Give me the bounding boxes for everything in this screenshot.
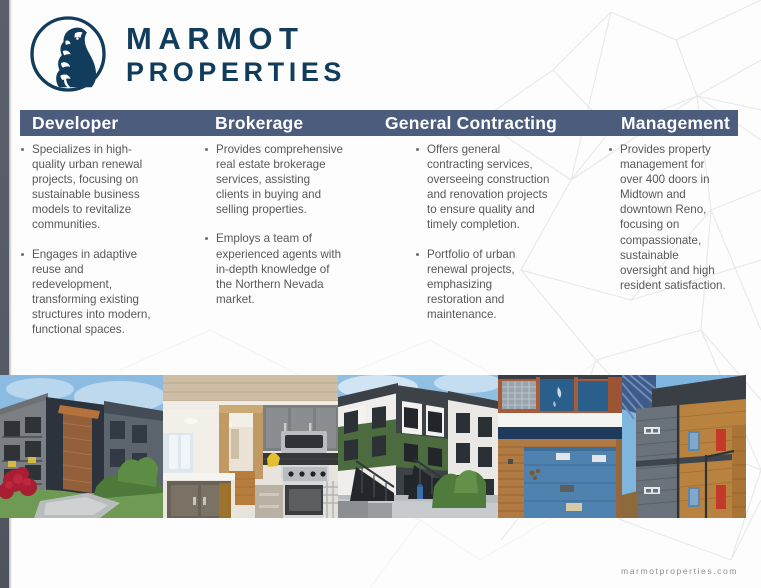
brand-name-line1: MARMOT	[126, 23, 346, 54]
content-columns: Specializes in high-quality urban renewa…	[20, 142, 738, 367]
column-general-contracting: Offers general contracting services, ove…	[415, 142, 550, 336]
column-developer: Specializes in high-quality urban renewa…	[20, 142, 155, 351]
list-item: Provides property management for over 40…	[608, 142, 728, 293]
photo-strip	[0, 375, 746, 518]
photo-blue-garage-door	[498, 375, 622, 518]
header-title-management: Management	[621, 113, 730, 133]
bullet-list-general-contracting: Offers general contracting services, ove…	[415, 142, 550, 322]
list-item: Engages in adaptive reuse and redevelopm…	[20, 247, 155, 338]
brand-logo: MARMOT PROPERTIES	[28, 14, 346, 94]
photo-kitchen-interior	[163, 375, 338, 518]
photo-townhome-row	[338, 375, 498, 518]
photo-apartment-exterior	[0, 375, 163, 518]
list-item: Employs a team of experienced agents wit…	[204, 231, 344, 306]
bullet-list-brokerage: Provides comprehensive real estate broke…	[204, 142, 344, 307]
section-header-band: Developer Brokerage General Contracting …	[20, 110, 738, 136]
column-brokerage: Provides comprehensive real estate broke…	[204, 142, 344, 321]
marmot-circle-logo-icon	[28, 14, 108, 94]
list-item: Offers general contracting services, ove…	[415, 142, 550, 233]
footer-website-url[interactable]: marmotproperties.com	[621, 566, 738, 576]
brand-name-line2: PROPERTIES	[126, 59, 346, 86]
header-title-developer: Developer	[32, 113, 118, 133]
list-item: Provides comprehensive real estate broke…	[204, 142, 344, 217]
list-item: Specializes in high-quality urban renewa…	[20, 142, 155, 233]
bullet-list-management: Provides property management for over 40…	[608, 142, 728, 293]
list-item: Portfolio of urban renewal projects, emp…	[415, 247, 550, 322]
column-management: Provides property management for over 40…	[608, 142, 728, 307]
brand-wordmark: MARMOT PROPERTIES	[126, 23, 346, 86]
header-title-brokerage: Brokerage	[215, 113, 303, 133]
photo-modular-container-building	[622, 375, 746, 518]
slide-canvas: MARMOT PROPERTIES Developer Brokerage Ge…	[0, 0, 761, 588]
bullet-list-developer: Specializes in high-quality urban renewa…	[20, 142, 155, 337]
header-title-general-contracting: General Contracting	[385, 113, 557, 133]
